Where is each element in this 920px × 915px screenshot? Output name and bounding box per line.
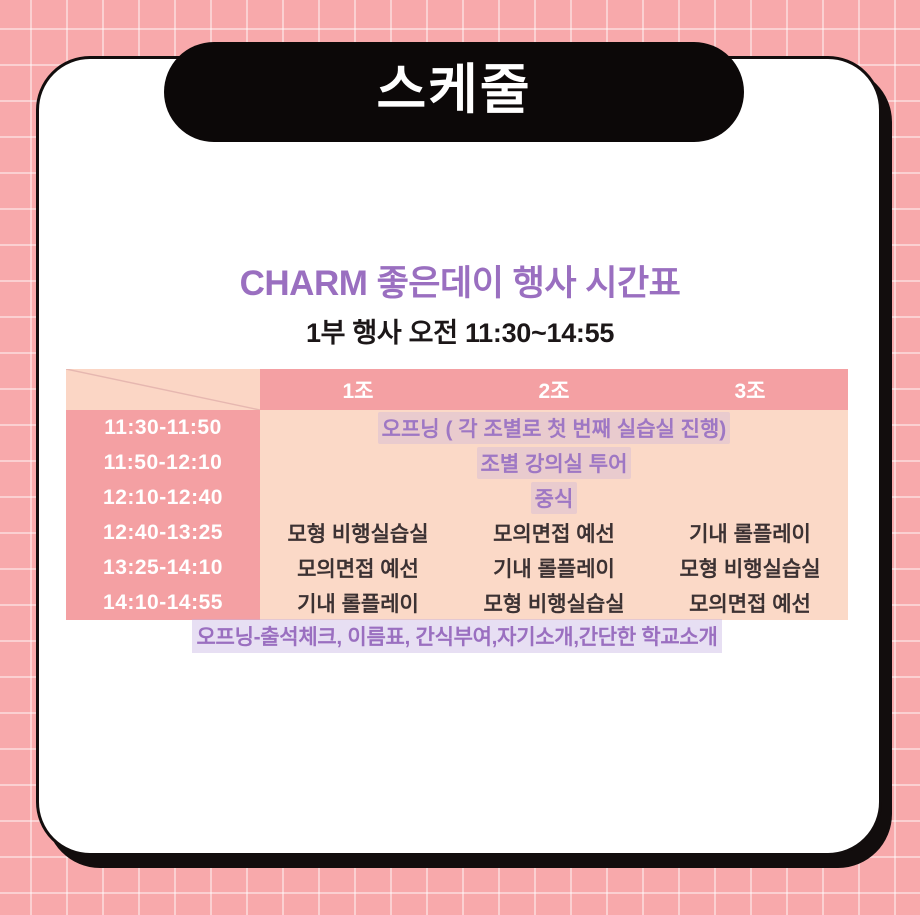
footnote-label: 오프닝-출석체크, 이름표, 간식부여,자기소개,간단한 학교소개	[192, 619, 723, 653]
time-slot: 11:50-12:10	[66, 445, 260, 480]
title-pill: 스케줄	[164, 42, 744, 142]
merged-activity-cell: 오프닝 ( 각 조별로 첫 번째 실습실 진행)	[260, 410, 848, 445]
activity-cell: 모형 비행실습실	[652, 550, 848, 585]
activity-cell: 모의면접 예선	[652, 585, 848, 620]
time-slot: 13:25-14:10	[66, 550, 260, 585]
merged-activity-label: 조별 강의실 투어	[477, 447, 632, 479]
column-header-group-3: 3조	[652, 369, 848, 410]
activity-cell: 기내 롤플레이	[260, 585, 456, 620]
table-header-row: 1조 2조 3조	[66, 369, 848, 410]
activity-cell: 기내 롤플레이	[652, 515, 848, 550]
footnote: 오프닝-출석체크, 이름표, 간식부여,자기소개,간단한 학교소개	[66, 619, 848, 653]
activity-cell: 모형 비행실습실	[260, 515, 456, 550]
title-pill-label: 스케줄	[376, 63, 531, 117]
table-row: 11:30-11:50 오프닝 ( 각 조별로 첫 번째 실습실 진행)	[66, 410, 848, 445]
table-row: 12:10-12:40 중식	[66, 480, 848, 515]
table-header: 1조 2조 3조	[66, 369, 848, 410]
page-subtitle: 1부 행사 오전 11:30~14:55	[0, 311, 920, 350]
column-header-group-1: 1조	[260, 369, 456, 410]
table-row: 14:10-14:55 기내 롤플레이 모형 비행실습실 모의면접 예선	[66, 585, 848, 620]
merged-activity-cell: 조별 강의실 투어	[260, 445, 848, 480]
merged-activity-label: 오프닝 ( 각 조별로 첫 번째 실습실 진행)	[378, 412, 731, 444]
table-body: 11:30-11:50 오프닝 ( 각 조별로 첫 번째 실습실 진행) 11:…	[66, 410, 848, 620]
table-row: 11:50-12:10 조별 강의실 투어	[66, 445, 848, 480]
time-slot: 12:40-13:25	[66, 515, 260, 550]
corner-cell	[66, 369, 260, 410]
time-slot: 12:10-12:40	[66, 480, 260, 515]
merged-activity-label: 중식	[531, 482, 578, 514]
activity-cell: 기내 롤플레이	[456, 550, 652, 585]
diagonal-slash-icon	[66, 369, 260, 410]
table-row: 13:25-14:10 모의면접 예선 기내 롤플레이 모형 비행실습실	[66, 550, 848, 585]
activity-cell: 모의면접 예선	[260, 550, 456, 585]
table-row: 12:40-13:25 모형 비행실습실 모의면접 예선 기내 롤플레이	[66, 515, 848, 550]
time-slot: 14:10-14:55	[66, 585, 260, 620]
activity-cell: 모형 비행실습실	[456, 585, 652, 620]
page-title: CHARM 좋은데이 행사 시간표	[0, 255, 920, 306]
merged-activity-cell: 중식	[260, 480, 848, 515]
column-header-group-2: 2조	[456, 369, 652, 410]
schedule-table: 1조 2조 3조 11:30-11:50 오프닝 ( 각 조별로 첫 번째 실습…	[66, 369, 848, 620]
activity-cell: 모의면접 예선	[456, 515, 652, 550]
time-slot: 11:30-11:50	[66, 410, 260, 445]
